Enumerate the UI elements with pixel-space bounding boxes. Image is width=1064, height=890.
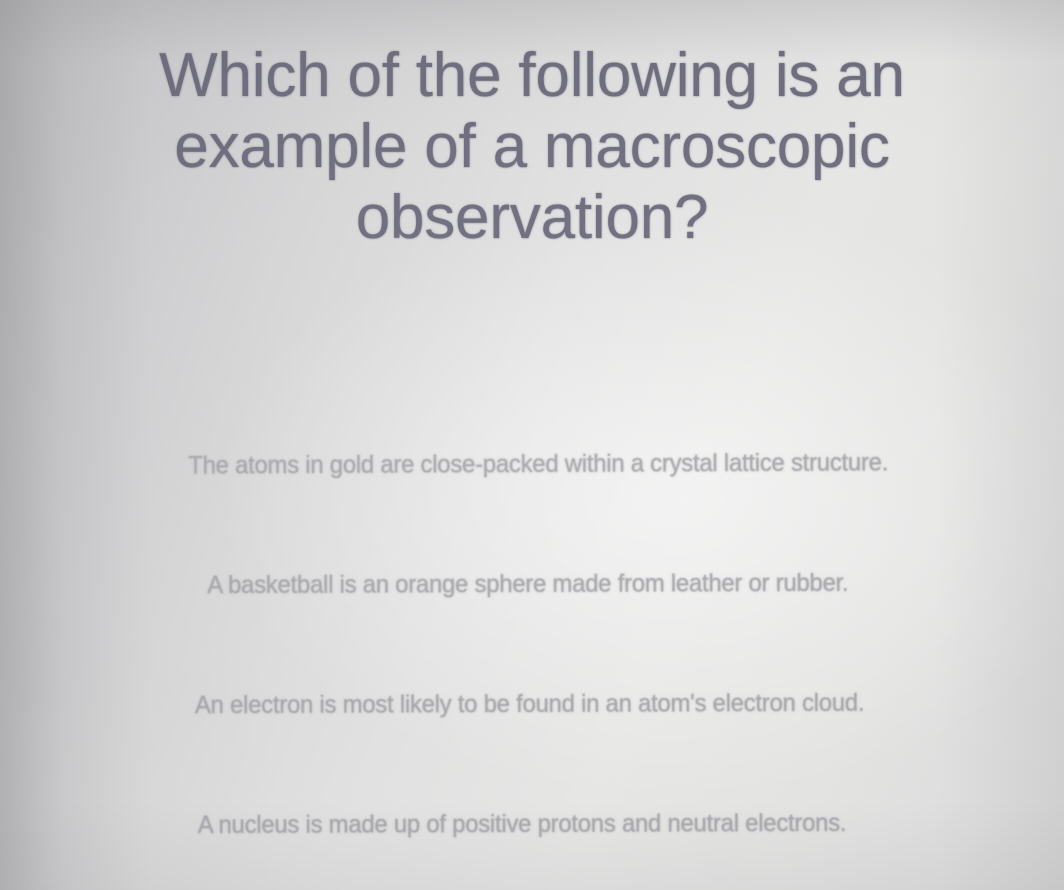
- answer-option-3-label: An electron is most likely to be found i…: [194, 688, 863, 720]
- answer-option-1-label: The atoms in gold are close-packed withi…: [188, 447, 888, 480]
- answer-option-2[interactable]: A basketball is an orange sphere made fr…: [0, 524, 1064, 644]
- question-prompt: Which of the following is an example of …: [0, 40, 1064, 253]
- quiz-screen: Which of the following is an example of …: [0, 0, 1064, 890]
- question-line-2: example of a macroscopic: [0, 111, 1064, 182]
- answer-option-3[interactable]: An electron is most likely to be found i…: [0, 644, 1064, 764]
- question-line-1: Which of the following is an: [0, 40, 1064, 111]
- answer-option-4[interactable]: A nucleus is made up of positive protons…: [0, 764, 1064, 884]
- answer-option-2-label: A basketball is an orange sphere made fr…: [208, 568, 849, 600]
- quiz-content: Which of the following is an example of …: [0, 0, 1064, 890]
- answer-options-list: The atoms in gold are close-packed withi…: [0, 404, 1064, 884]
- answer-option-4-label: A nucleus is made up of positive protons…: [198, 808, 847, 840]
- question-line-3: observation?: [0, 182, 1064, 253]
- answer-option-1[interactable]: The atoms in gold are close-packed withi…: [0, 404, 1064, 524]
